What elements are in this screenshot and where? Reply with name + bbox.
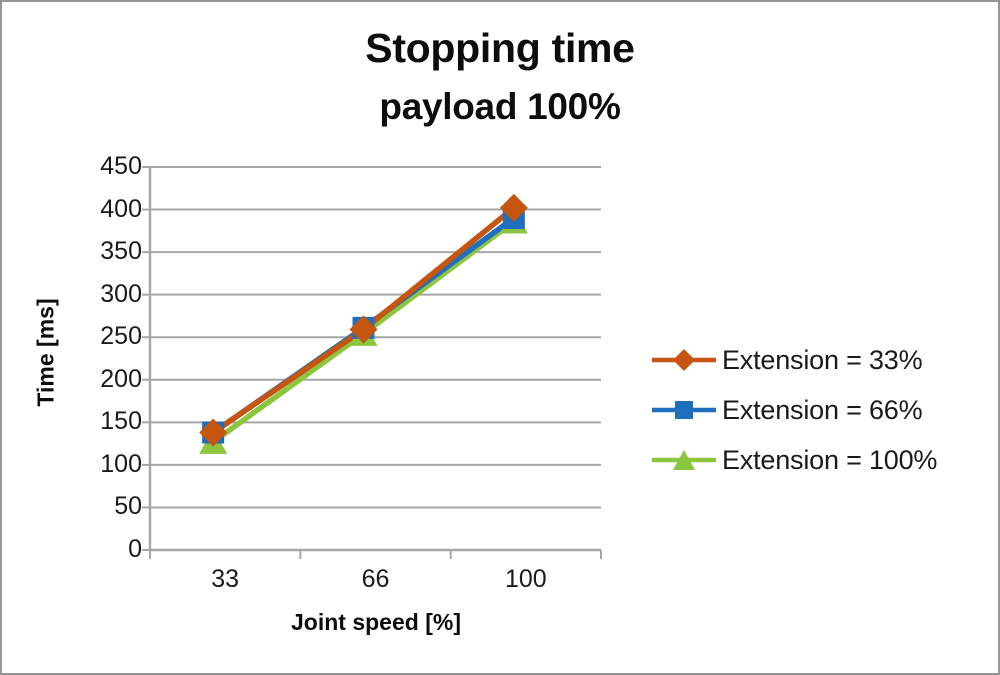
y-axis-tick-label: 50 [90,494,142,519]
chart-legend: Extension = 33%Extension = 66%Extension … [650,335,995,485]
y-axis-tick-label: 400 [90,197,142,222]
y-axis-tick-labels: 050100150200250300350400450 [90,2,142,673]
legend-item[interactable]: Extension = 33% [650,335,995,385]
legend-label: Extension = 100% [722,445,937,476]
y-axis-tick-label: 150 [90,409,142,434]
legend-marker-icon [650,397,718,423]
y-axis-tick-label: 0 [90,537,142,562]
legend-marker-icon [650,347,718,373]
legend-label: Extension = 33% [722,345,922,376]
legend-item[interactable]: Extension = 100% [650,435,995,485]
legend-item[interactable]: Extension = 66% [650,385,995,435]
y-axis-tick-label: 350 [90,239,142,264]
x-axis-title: Joint speed [%] [150,609,602,636]
y-axis-title: Time [ms] [33,263,60,443]
legend-label: Extension = 66% [722,395,922,426]
y-axis-tick-label: 300 [90,282,142,307]
y-axis-tick-label: 100 [90,452,142,477]
y-axis-tick-label: 250 [90,324,142,349]
legend-marker-icon [650,447,718,473]
y-axis-tick-label: 200 [90,367,142,392]
x-axis-tick-label: 33 [150,567,300,592]
x-axis-tick-label: 66 [300,567,450,592]
x-axis-tick-label: 100 [451,567,601,592]
y-axis-tick-label: 450 [90,154,142,179]
chart-screenshot: Stopping time payload 100% 0501001502002… [0,0,1000,675]
